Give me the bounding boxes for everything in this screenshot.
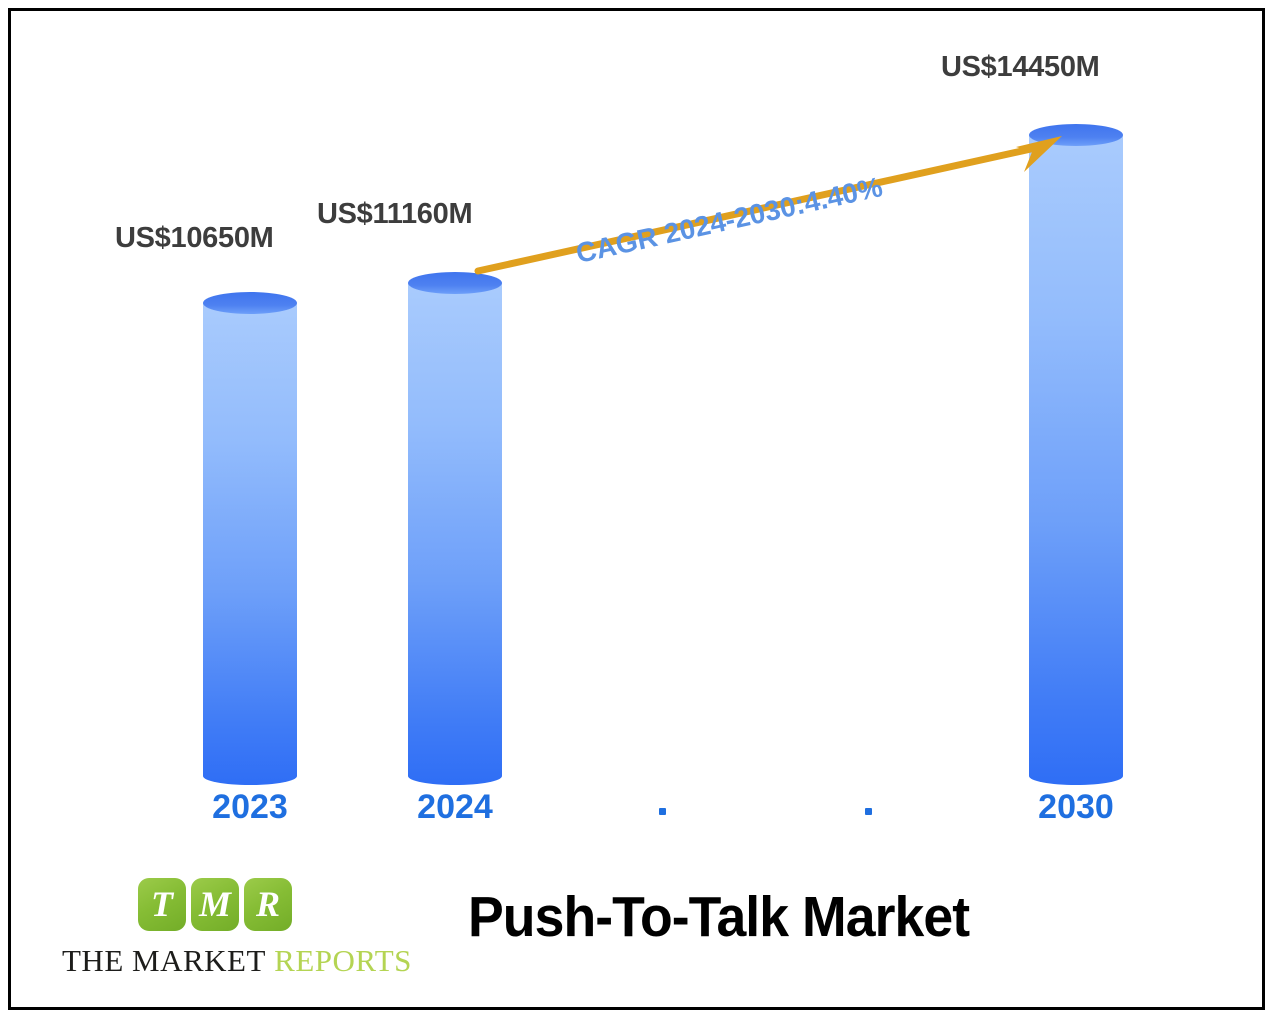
logo-wordmark: THE MARKET REPORTS	[62, 943, 362, 979]
axis-gap-dot-1	[659, 808, 666, 815]
market-title: Push-To-Talk Market	[468, 884, 969, 950]
year-label-2030: 2030	[1016, 788, 1136, 827]
infographic-canvas: US$10650M US$11160M US$14450M CAGR 2024-…	[0, 0, 1275, 1020]
logo-word-the-market: THE MARKET	[62, 943, 266, 978]
axis-gap-dot-2	[865, 808, 872, 815]
logo-tile-t: T	[138, 878, 186, 931]
logo-tile-r: R	[244, 878, 292, 931]
cagr-arrow-icon	[0, 0, 1275, 1020]
year-label-2023: 2023	[190, 788, 310, 827]
year-label-2024: 2024	[395, 788, 515, 827]
logo-tile-m: M	[191, 878, 239, 931]
tmr-logo-tiles: T M R	[138, 878, 362, 934]
tmr-logo: T M R THE MARKET REPORTS	[62, 878, 362, 979]
logo-word-reports: REPORTS	[274, 943, 412, 978]
